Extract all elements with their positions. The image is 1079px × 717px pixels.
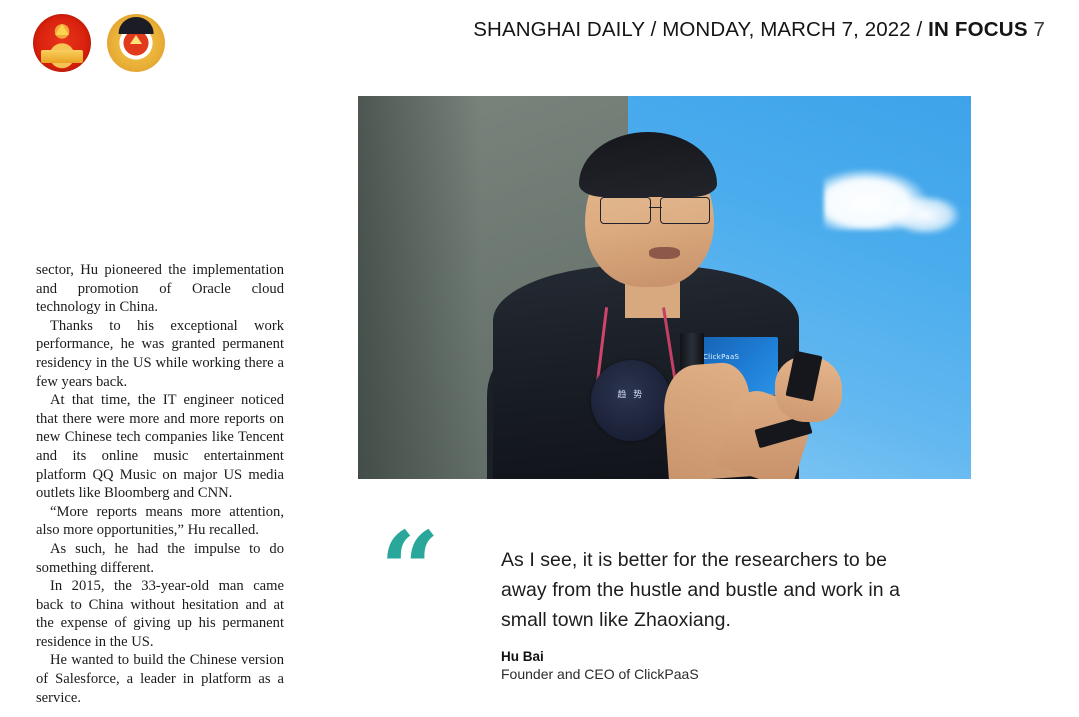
page-number: 7 xyxy=(1033,18,1045,41)
article-paragraph: At that time, the IT engineer noticed th… xyxy=(36,391,284,503)
emblem-group xyxy=(33,14,165,72)
photo-shirt-badge: 趋 势 xyxy=(591,360,671,440)
article-paragraph: “More reports means more attention, also… xyxy=(36,503,284,540)
cppcc-emblem-icon xyxy=(107,14,165,72)
shirt-badge-text: 趋 势 xyxy=(617,388,644,401)
issue-date: MONDAY, MARCH 7, 2022 xyxy=(662,18,911,41)
article-paragraph: As such, he had the impulse to do someth… xyxy=(36,540,284,577)
header-line: SHANGHAI DAILY / MONDAY, MARCH 7, 2022 /… xyxy=(473,18,1045,42)
pull-quote-text: As I see, it is better for the researche… xyxy=(501,545,921,635)
glasses-lens-left xyxy=(600,197,651,224)
article-body-column: sector, Hu pioneered the implementation … xyxy=(36,261,284,707)
quotation-mark-icon: “ xyxy=(380,535,440,605)
photo-wall-shadow xyxy=(358,96,481,479)
photo-cloud-secondary xyxy=(891,196,958,234)
photo-speaker-mouth xyxy=(649,247,680,258)
article-paragraph: In 2015, the 33-year-old man came back t… xyxy=(36,577,284,651)
header-separator-1: / xyxy=(645,18,662,41)
article-paragraph: He wanted to build the Chinese version o… xyxy=(36,651,284,707)
article-paragraph: sector, Hu pioneered the implementation … xyxy=(36,261,284,317)
photo-speaker-glasses xyxy=(600,197,710,222)
pull-quote-person-name: Hu Bai xyxy=(501,648,921,665)
section-name: IN FOCUS xyxy=(928,18,1028,41)
header-separator-2: / xyxy=(911,18,928,41)
masthead: SHANGHAI DAILY / MONDAY, MARCH 7, 2022 /… xyxy=(0,0,1079,100)
pull-quote-attribution: Hu Bai Founder and CEO of ClickPaaS xyxy=(501,648,921,684)
article-photo: 趋 势 ClickPaaS xyxy=(358,96,971,479)
microphone-flag-text: ClickPaaS xyxy=(703,353,739,361)
glasses-lens-right xyxy=(660,197,711,224)
pull-quote-body: As I see, it is better for the researche… xyxy=(501,545,921,684)
publication-name: SHANGHAI DAILY xyxy=(473,18,645,41)
article-paragraph: Thanks to his exceptional work performan… xyxy=(36,317,284,391)
national-emblem-china-icon xyxy=(33,14,91,72)
pull-quote-person-role: Founder and CEO of ClickPaaS xyxy=(501,665,921,684)
